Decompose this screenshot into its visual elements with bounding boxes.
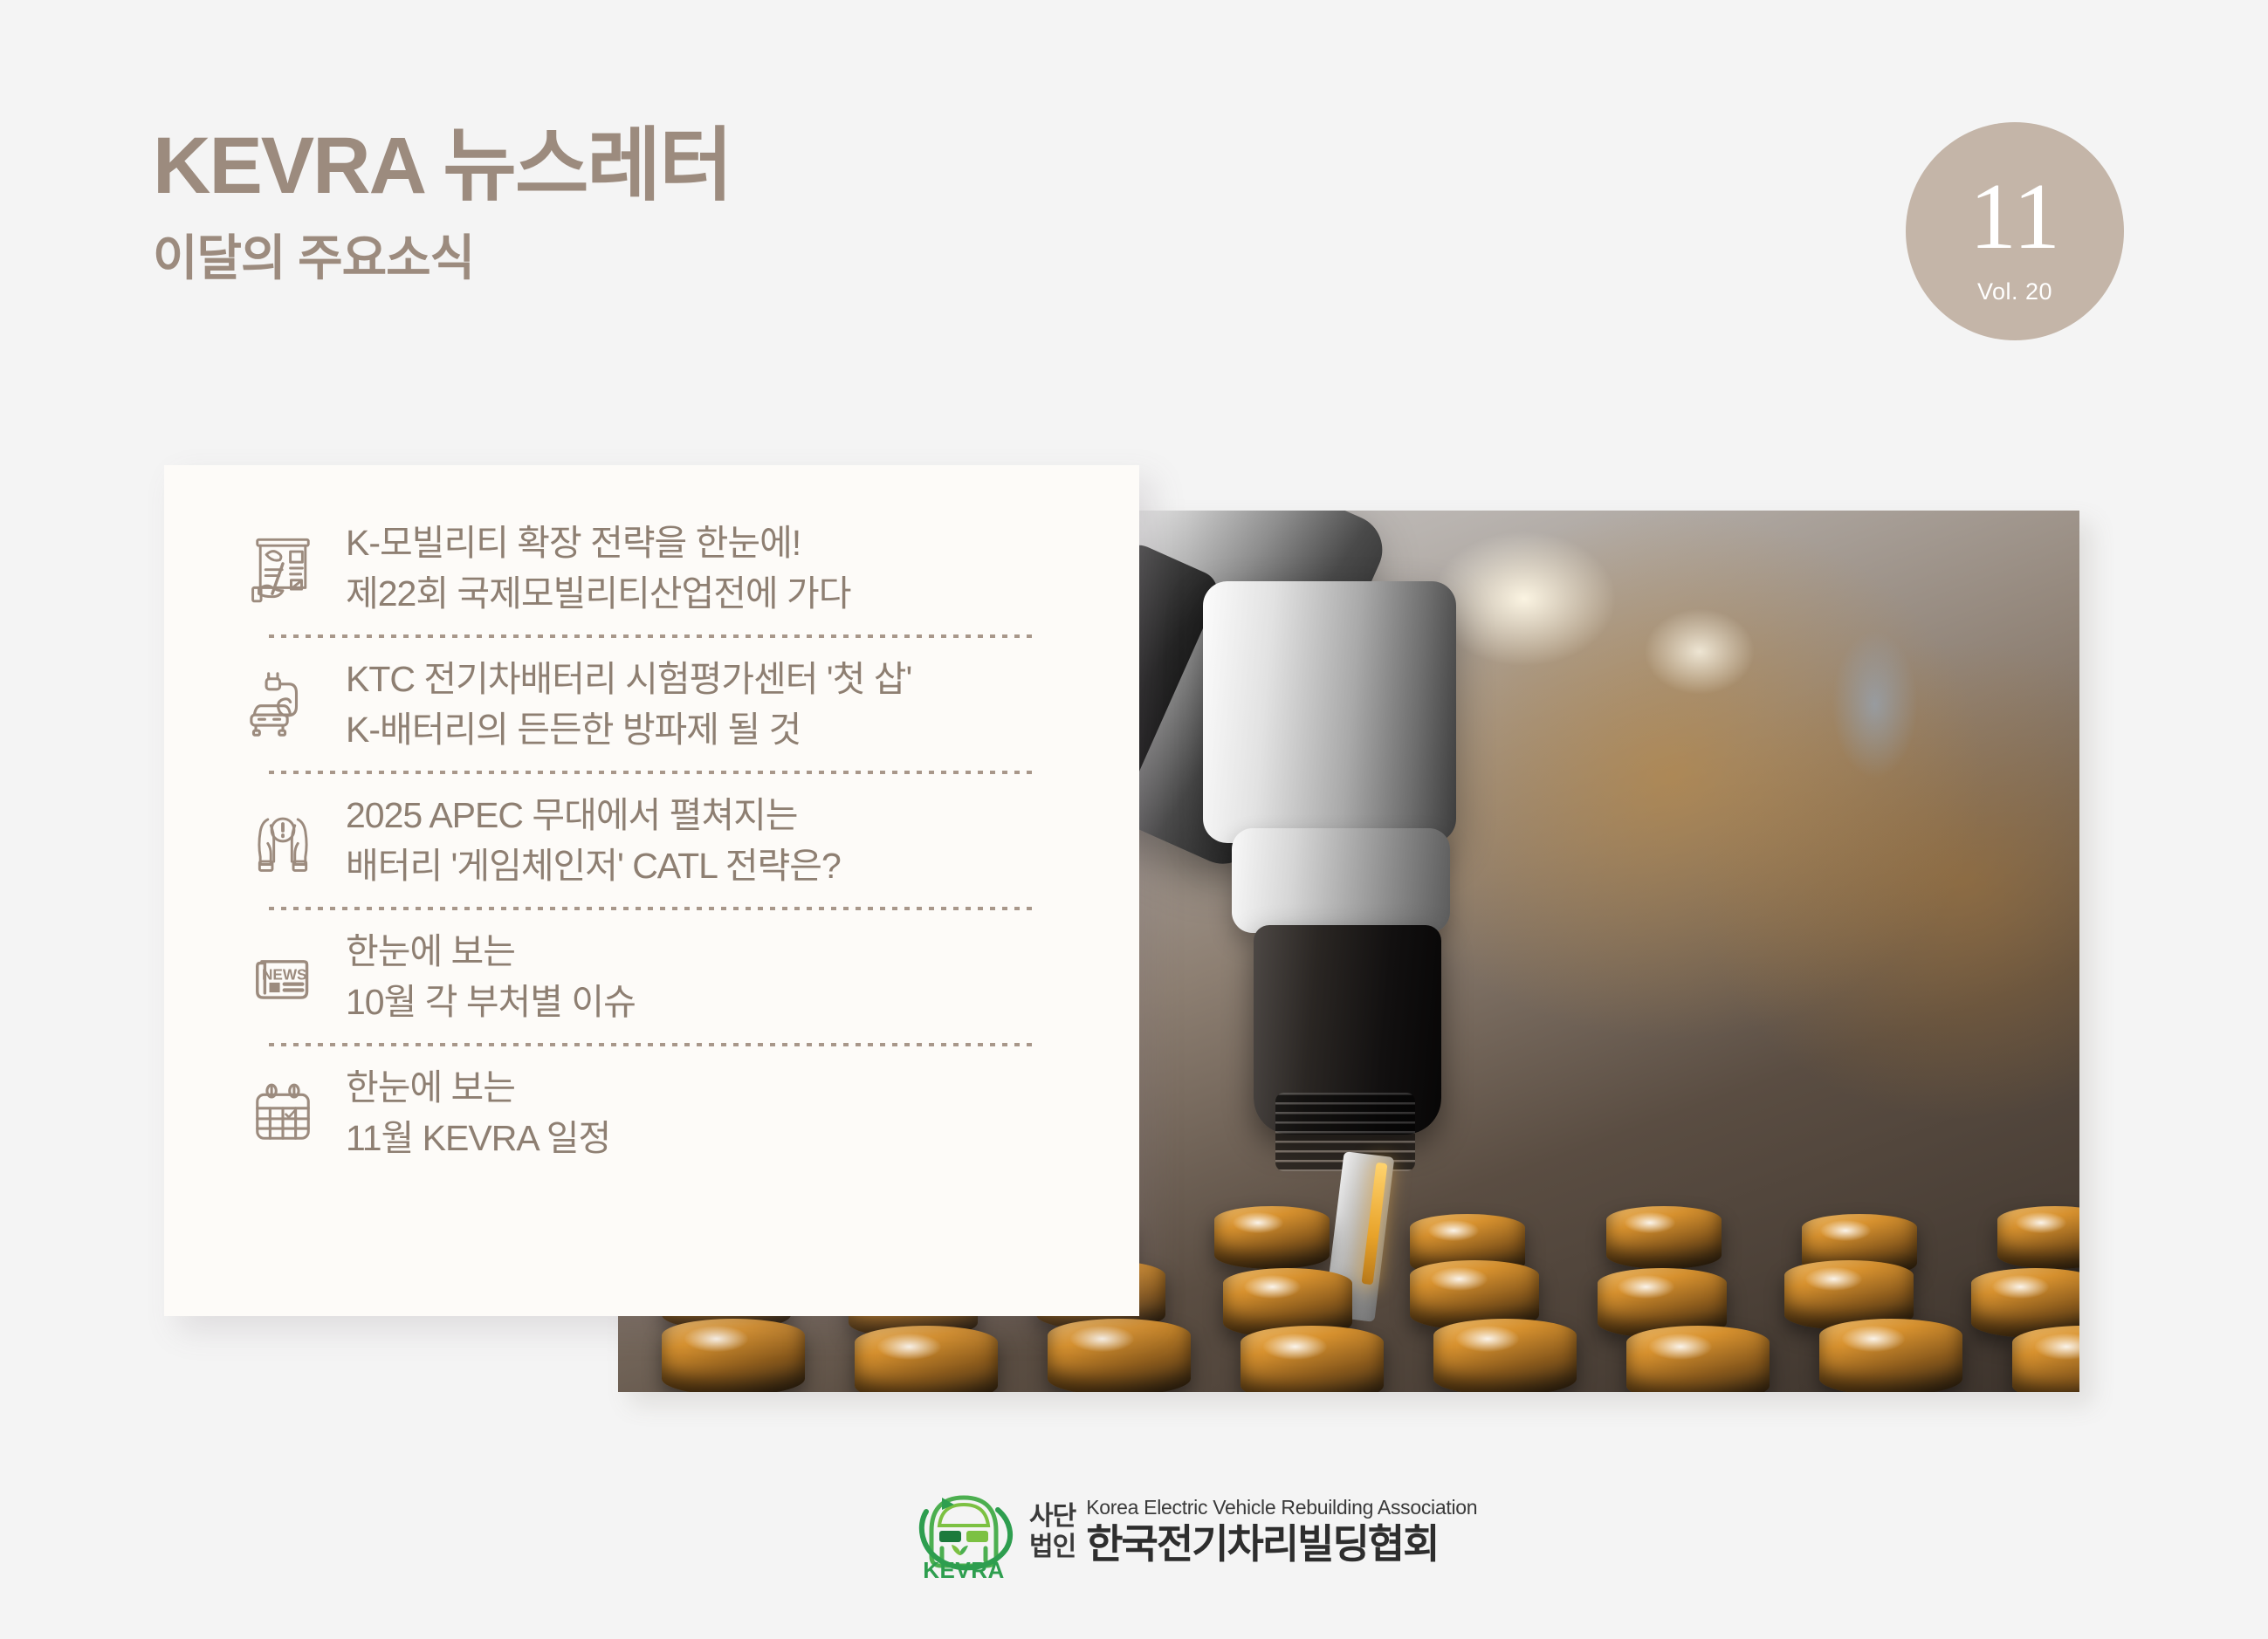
footer-logo: KEVRA 사단 법인 Korea Electric Vehicle Rebui… <box>911 1480 1477 1583</box>
list-item-text: 한눈에 보는10월 각 부처별 이슈 <box>332 926 636 1027</box>
association-prefix: 사단 법인 <box>1029 1501 1076 1563</box>
battery-cell <box>1997 1206 2079 1269</box>
badge-month-number: 11 <box>1969 170 2060 264</box>
list-item-line-1: KTC 전기차배터리 시험평가센터 '첫 삽' <box>346 654 911 704</box>
page-title: KEVRA 뉴스레터 <box>153 122 732 210</box>
list-item-line-2: 10월 각 부처별 이슈 <box>346 977 636 1027</box>
battery-cell <box>1241 1326 1384 1392</box>
hands-alert-icon <box>234 803 332 878</box>
volume-badge: 11 Vol. 20 <box>1906 122 2124 340</box>
battery-cell <box>1606 1206 1722 1269</box>
newsletter-page: KEVRA 뉴스레터 이달의 주요소식 11 Vol. 20 K-모빌리티 <box>0 0 2268 1639</box>
list-item-text: KTC 전기차배터리 시험평가센터 '첫 삽'K-배터리의 든든한 방파제 될 … <box>332 654 911 755</box>
list-item[interactable]: NEWS 한눈에 보는10월 각 부처별 이슈 <box>234 910 1072 1043</box>
association-korean-name: 한국전기차리빌딩협회 <box>1086 1522 1477 1567</box>
kevra-emblem-icon: KEVRA <box>911 1480 1017 1583</box>
svg-text:NEWS: NEWS <box>262 965 307 983</box>
badge-volume-label: Vol. 20 <box>1977 278 2052 305</box>
newspaper-icon: NEWS <box>234 939 332 1014</box>
battery-cell <box>662 1319 805 1392</box>
list-item-line-2: 배터리 '게임체인저' CATL 전략은? <box>346 840 841 891</box>
prefix-line-1: 사단 <box>1029 1501 1076 1532</box>
battery-cell <box>2012 1326 2079 1392</box>
list-item-line-1: 한눈에 보는 <box>346 926 636 977</box>
list-item[interactable]: 한눈에 보는11월 KEVRA 일정 <box>234 1046 1072 1179</box>
list-item-line-2: K-배터리의 든든한 방파제 될 것 <box>346 704 911 755</box>
robot-arm-collar <box>1203 581 1456 843</box>
battery-cell <box>1214 1206 1330 1269</box>
list-item[interactable]: 2025 APEC 무대에서 펼쳐지는배터리 '게임체인저' CATL 전략은? <box>234 774 1072 907</box>
list-item[interactable]: K-모빌리티 확장 전략을 한눈에!제22회 국제모빌리티산업전에 가다 <box>234 502 1072 634</box>
electric-car-charging-icon <box>234 667 332 742</box>
news-list: K-모빌리티 확장 전략을 한눈에!제22회 국제모빌리티산업전에 가다 KTC… <box>234 502 1072 1179</box>
presentation-board-icon <box>234 531 332 606</box>
list-item-line-1: K-모빌리티 확장 전략을 한눈에! <box>346 518 850 568</box>
battery-cell <box>1819 1319 1962 1392</box>
page-subtitle: 이달의 주요소식 <box>153 231 732 285</box>
battery-cell <box>1048 1319 1191 1392</box>
association-name-block: Korea Electric Vehicle Rebuilding Associ… <box>1086 1496 1477 1567</box>
calendar-check-icon <box>234 1075 332 1150</box>
header-block: KEVRA 뉴스레터 이달의 주요소식 <box>153 122 732 285</box>
association-english-name: Korea Electric Vehicle Rebuilding Associ… <box>1086 1496 1477 1520</box>
battery-cell <box>1626 1326 1770 1392</box>
list-item-text: 2025 APEC 무대에서 펼쳐지는배터리 '게임체인저' CATL 전략은? <box>332 790 841 891</box>
news-highlights-card: K-모빌리티 확장 전략을 한눈에!제22회 국제모빌리티산업전에 가다 KTC… <box>164 465 1139 1316</box>
svg-text:KEVRA: KEVRA <box>923 1557 1005 1583</box>
list-item-line-1: 2025 APEC 무대에서 펼쳐지는 <box>346 790 841 840</box>
logo-text-block: 사단 법인 Korea Electric Vehicle Rebuilding … <box>1029 1496 1477 1567</box>
robot-arm-ring <box>1232 828 1450 933</box>
list-item[interactable]: KTC 전기차배터리 시험평가센터 '첫 삽'K-배터리의 든든한 방파제 될 … <box>234 638 1072 771</box>
list-item-text: 한눈에 보는11월 KEVRA 일정 <box>332 1062 610 1163</box>
prefix-line-2: 법인 <box>1029 1532 1076 1562</box>
battery-cell <box>855 1326 998 1392</box>
list-item-line-1: 한눈에 보는 <box>346 1062 610 1113</box>
list-item-line-2: 제22회 국제모빌리티산업전에 가다 <box>346 568 850 619</box>
battery-cell <box>1433 1319 1577 1392</box>
list-item-text: K-모빌리티 확장 전략을 한눈에!제22회 국제모빌리티산업전에 가다 <box>332 518 850 619</box>
list-item-line-2: 11월 KEVRA 일정 <box>346 1113 610 1163</box>
